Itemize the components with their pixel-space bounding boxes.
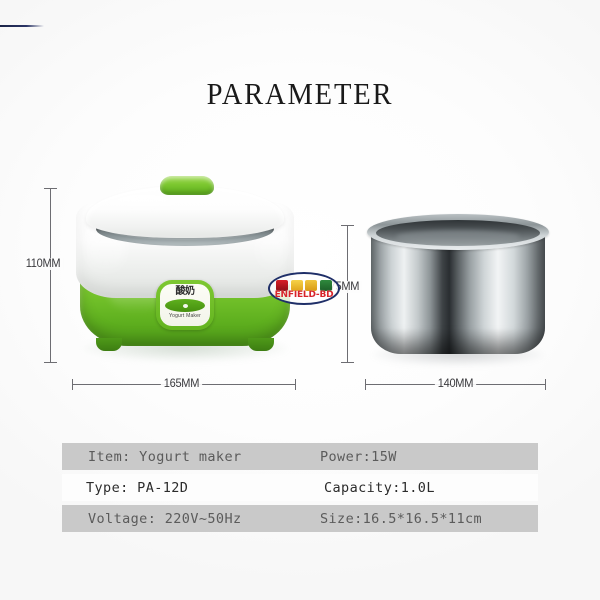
table-row: Item: Yogurt maker Power:15W bbox=[62, 443, 538, 470]
spec-type-label: Type: PA-12D bbox=[62, 480, 320, 496]
maker-foot-left bbox=[96, 338, 122, 351]
maker-foot-right bbox=[248, 338, 274, 351]
product-parameter-page: PARAMETER 酸奶 Yogurt Maker 110MM 165MM bbox=[0, 0, 600, 600]
dim-line-pot-height bbox=[347, 225, 348, 363]
table-row: Voltage: 220V~50Hz Size:16.5*16.5*11cm bbox=[62, 505, 538, 532]
dim-cap-pot-width-right bbox=[545, 379, 546, 390]
enfield-bd-watermark: ENFIELD-BD bbox=[268, 272, 340, 307]
spec-item-label: Item: Yogurt maker bbox=[62, 449, 320, 465]
table-row: Type: PA-12D Capacity:1.0L bbox=[62, 474, 538, 501]
spec-voltage-label: Voltage: 220V~50Hz bbox=[62, 511, 320, 527]
watermark-text: ENFIELD-BD bbox=[268, 290, 340, 300]
page-title: PARAMETER bbox=[24, 76, 576, 112]
stray-navy-line bbox=[0, 25, 44, 27]
spec-size-label: Size:16.5*16.5*11cm bbox=[320, 511, 538, 527]
specification-table: Item: Yogurt maker Power:15W Type: PA-12… bbox=[62, 443, 538, 532]
badge-inner-panel: 酸奶 Yogurt Maker bbox=[160, 284, 210, 326]
dim-cap-unit-width-right bbox=[295, 379, 296, 390]
dim-label-unit-width: 165MM bbox=[161, 378, 202, 390]
spec-power-label: Power:15W bbox=[320, 449, 538, 465]
dim-line-unit-height bbox=[50, 188, 51, 363]
dim-cap-pot-height-bottom bbox=[341, 362, 354, 363]
dim-label-unit-height: 110MM bbox=[23, 258, 63, 270]
maker-brand-badge: 酸奶 Yogurt Maker bbox=[156, 280, 214, 330]
badge-brand-cn: 酸奶 bbox=[176, 287, 195, 297]
yogurt-maker-image: 酸奶 Yogurt Maker bbox=[74, 176, 296, 368]
maker-lid-knob bbox=[160, 176, 214, 195]
inner-pot-image bbox=[367, 214, 549, 366]
spec-capacity-label: Capacity:1.0L bbox=[320, 480, 538, 496]
pot-interior-cavity bbox=[376, 220, 540, 246]
badge-oval-mark bbox=[165, 299, 205, 312]
dim-label-pot-width: 140MM bbox=[435, 378, 476, 390]
badge-brand-sub: Yogurt Maker bbox=[169, 313, 201, 319]
dim-cap-unit-height-bottom bbox=[44, 362, 57, 363]
